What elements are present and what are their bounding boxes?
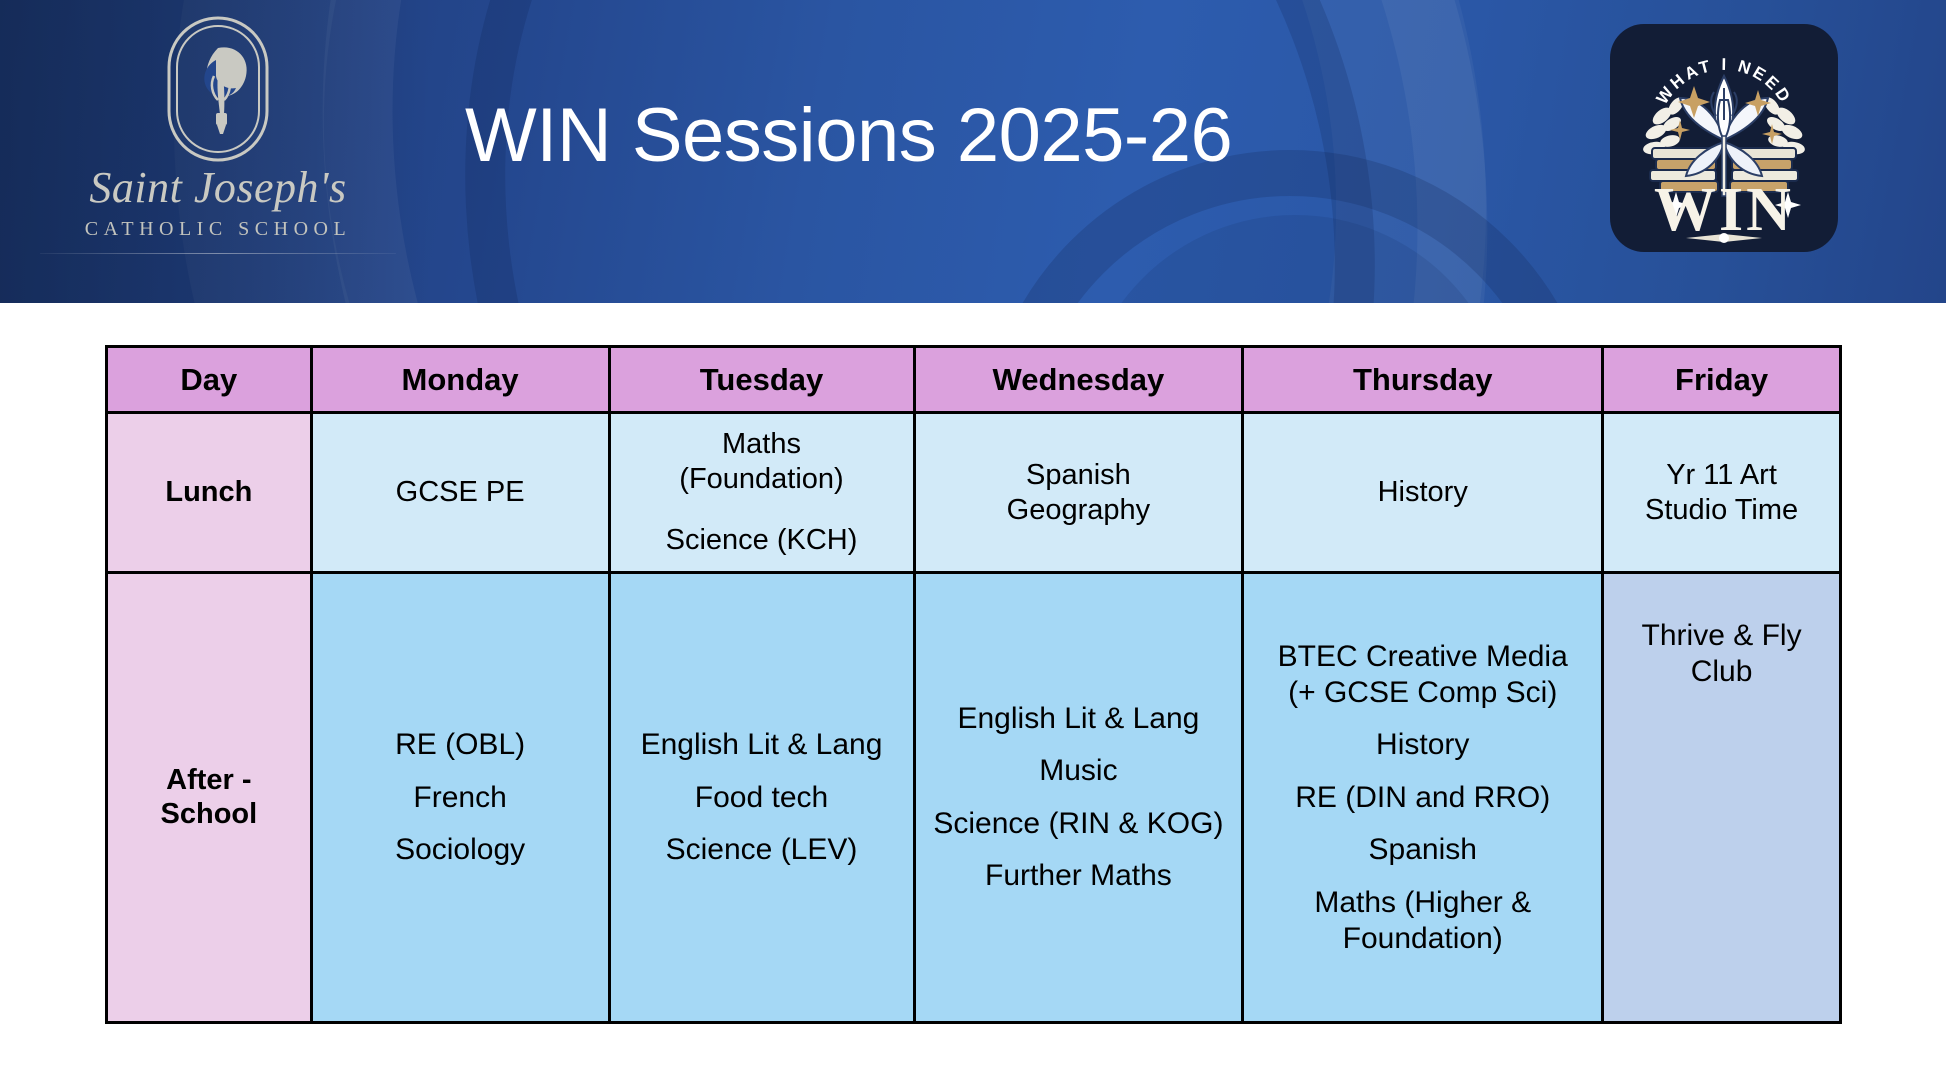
school-subtitle: CATHOLIC SCHOOL — [85, 218, 351, 241]
cell-line: Club — [1612, 654, 1831, 690]
win-sessions-schedule: Day Monday Tuesday Wednesday Thursday Fr… — [105, 345, 1842, 1024]
cell-line: Spanish — [1252, 832, 1593, 868]
cell-line: History — [1252, 727, 1593, 763]
cell-line: RE (DIN and RRO) — [1252, 780, 1593, 816]
cell-lunch-wednesday: SpanishGeography — [914, 413, 1243, 573]
schedule-table: Day Monday Tuesday Wednesday Thursday Fr… — [105, 345, 1842, 1024]
cell-line-gap — [619, 496, 905, 524]
banner-swirl-decoration — [1080, 215, 1510, 303]
school-logo: Saint Joseph's CATHOLIC SCHOOL — [28, 14, 408, 294]
row-label-lunch: Lunch — [107, 413, 312, 573]
cell-line: Geography — [924, 493, 1234, 527]
cell-line: English Lit & Lang — [619, 727, 905, 763]
cell-line: Science (LEV) — [619, 832, 905, 868]
cell-after-wednesday: English Lit & LangMusicScience (RIN & KO… — [914, 573, 1243, 1023]
cell-line: BTEC Creative Media — [1252, 639, 1593, 675]
column-header-day: Day — [107, 347, 312, 413]
cell-line: Spanish — [924, 458, 1234, 492]
cell-after-friday: Thrive & FlyClub — [1603, 573, 1841, 1023]
win-emblem-icon: WHAT I NEED WIN — [1610, 24, 1838, 252]
page-banner: Saint Joseph's CATHOLIC SCHOOL WIN Sessi… — [0, 0, 1946, 303]
cell-line: English Lit & Lang — [924, 701, 1234, 737]
table-row-lunch: Lunch GCSE PE Maths(Foundation)Science (… — [107, 413, 1841, 573]
column-header-friday: Friday — [1603, 347, 1841, 413]
lily-crest-icon — [164, 14, 272, 164]
cell-lunch-thursday: History — [1243, 413, 1603, 573]
cell-line: History — [1252, 475, 1593, 509]
cell-line: (+ GCSE Comp Sci) — [1252, 675, 1593, 711]
cell-line: French — [321, 780, 600, 816]
school-name: Saint Joseph's — [89, 166, 346, 210]
row-label-after-school: After - School — [107, 573, 312, 1023]
table-header-row: Day Monday Tuesday Wednesday Thursday Fr… — [107, 347, 1841, 413]
cell-lunch-friday: Yr 11 ArtStudio Time — [1603, 413, 1841, 573]
cell-line: Maths — [619, 427, 905, 461]
cell-line: Music — [924, 753, 1234, 789]
cell-after-tuesday: English Lit & LangFood techScience (LEV) — [609, 573, 914, 1023]
table-row-after-school: After - School RE (OBL)FrenchSociology E… — [107, 573, 1841, 1023]
page-title: WIN Sessions 2025-26 — [465, 92, 1232, 179]
cell-lunch-monday: GCSE PE — [311, 413, 609, 573]
cell-after-thursday: BTEC Creative Media(+ GCSE Comp Sci)Hist… — [1243, 573, 1603, 1023]
cell-line: Sociology — [321, 832, 600, 868]
win-logo-badge: WHAT I NEED WIN — [1610, 24, 1838, 252]
cell-line: Food tech — [619, 780, 905, 816]
column-header-wednesday: Wednesday — [914, 347, 1243, 413]
cell-line: Thrive & Fly — [1612, 618, 1831, 654]
cell-lunch-tuesday: Maths(Foundation)Science (KCH) — [609, 413, 914, 573]
cell-line: Science (KCH) — [619, 523, 905, 557]
cell-line: Studio Time — [1612, 493, 1831, 527]
cell-line: GCSE PE — [321, 475, 600, 509]
cell-line: Yr 11 Art — [1612, 458, 1831, 492]
column-header-tuesday: Tuesday — [609, 347, 914, 413]
column-header-monday: Monday — [311, 347, 609, 413]
column-header-thursday: Thursday — [1243, 347, 1603, 413]
cell-line: RE (OBL) — [321, 727, 600, 763]
logo-divider — [40, 253, 396, 254]
cell-line: Science (RIN & KOG) — [924, 806, 1234, 842]
cell-line: Further Maths — [924, 858, 1234, 894]
cell-line: Foundation) — [1252, 921, 1593, 957]
cell-line: Maths (Higher & — [1252, 885, 1593, 921]
cell-line: (Foundation) — [619, 462, 905, 496]
cell-after-monday: RE (OBL)FrenchSociology — [311, 573, 609, 1023]
